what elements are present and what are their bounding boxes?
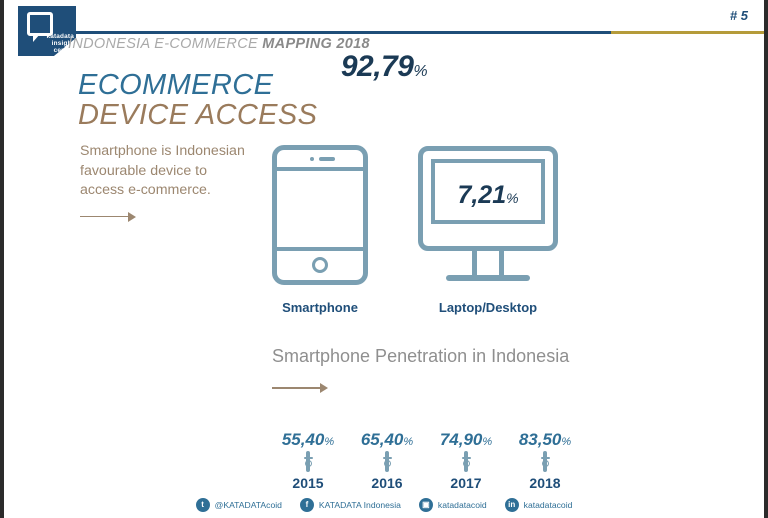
smartphone-outline-icon-2018 — [543, 451, 547, 472]
social-handle-instagram: katadatacoid — [438, 500, 487, 510]
linkedin-icon: in — [505, 498, 519, 512]
monitor-base-icon — [446, 275, 530, 281]
smartphone-percentage: 92,79% — [4, 50, 764, 84]
social-linkedin[interactable]: in katadatacoid — [505, 498, 573, 512]
bar-value-2016: 65,40% — [356, 430, 418, 450]
bar-label-2017: 2017 — [435, 475, 497, 491]
social-facebook[interactable]: f KATADATA Indonesia — [300, 498, 401, 512]
social-twitter[interactable]: t @KATADATAcoid — [196, 498, 282, 512]
social-handle-linkedin: katadatacoid — [524, 500, 573, 510]
chart-bar-2018: 83,50% 2018 — [514, 430, 576, 491]
bar-value-2017: 74,90% — [435, 430, 497, 450]
bar-label-2018: 2018 — [514, 475, 576, 491]
facebook-icon: f — [300, 498, 314, 512]
chart-bar-2015: 55,40% 2015 — [277, 430, 339, 491]
smartphone-outline-icon-2016 — [385, 451, 389, 472]
social-footer: t @KATADATAcoid f KATADATA Indonesia ▣ k… — [4, 498, 764, 512]
page-number: # 5 — [730, 8, 748, 23]
chart-bar-2017: 74,90% 2017 — [435, 430, 497, 491]
bar-label-2016: 2016 — [356, 475, 418, 491]
smartphone-outline-icon-2017 — [464, 451, 468, 472]
device-label-smartphone: Smartphone — [256, 300, 384, 315]
penetration-bar-chart: 55,40% 2015 65,40% 2016 74,90% 2017 — [259, 386, 589, 491]
laptop-desktop-percentage: 7,21% — [418, 181, 558, 210]
smartphone-icon — [272, 145, 368, 285]
twitter-icon: t — [196, 498, 210, 512]
social-handle-twitter: @KATADATAcoid — [215, 500, 282, 510]
intro-text-block: Smartphone is Indonesian favourable devi… — [80, 142, 245, 223]
bar-value-2015: 55,40% — [277, 430, 339, 450]
page-title-line2: DEVICE ACCESS — [78, 100, 317, 130]
penetration-chart-title: Smartphone Penetration in Indonesia — [272, 346, 569, 367]
smartphone-outline-icon-2015 — [306, 451, 310, 472]
bar-value-2018: 83,50% — [514, 430, 576, 450]
social-handle-facebook: KATADATA Indonesia — [319, 500, 401, 510]
bar-label-2015: 2015 — [277, 475, 339, 491]
social-instagram[interactable]: ▣ katadatacoid — [419, 498, 487, 512]
device-label-laptop-desktop: Laptop/Desktop — [424, 300, 552, 315]
instagram-icon: ▣ — [419, 498, 433, 512]
monitor-stand-icon — [472, 251, 504, 277]
intro-text: Smartphone is Indonesian favourable devi… — [80, 142, 245, 201]
chart-bar-2016: 65,40% 2016 — [356, 430, 418, 491]
slide-canvas: katadata insight center INDONESIA E-COMM… — [0, 0, 768, 518]
arrow-right-icon — [80, 211, 138, 223]
header-rule — [68, 31, 764, 34]
